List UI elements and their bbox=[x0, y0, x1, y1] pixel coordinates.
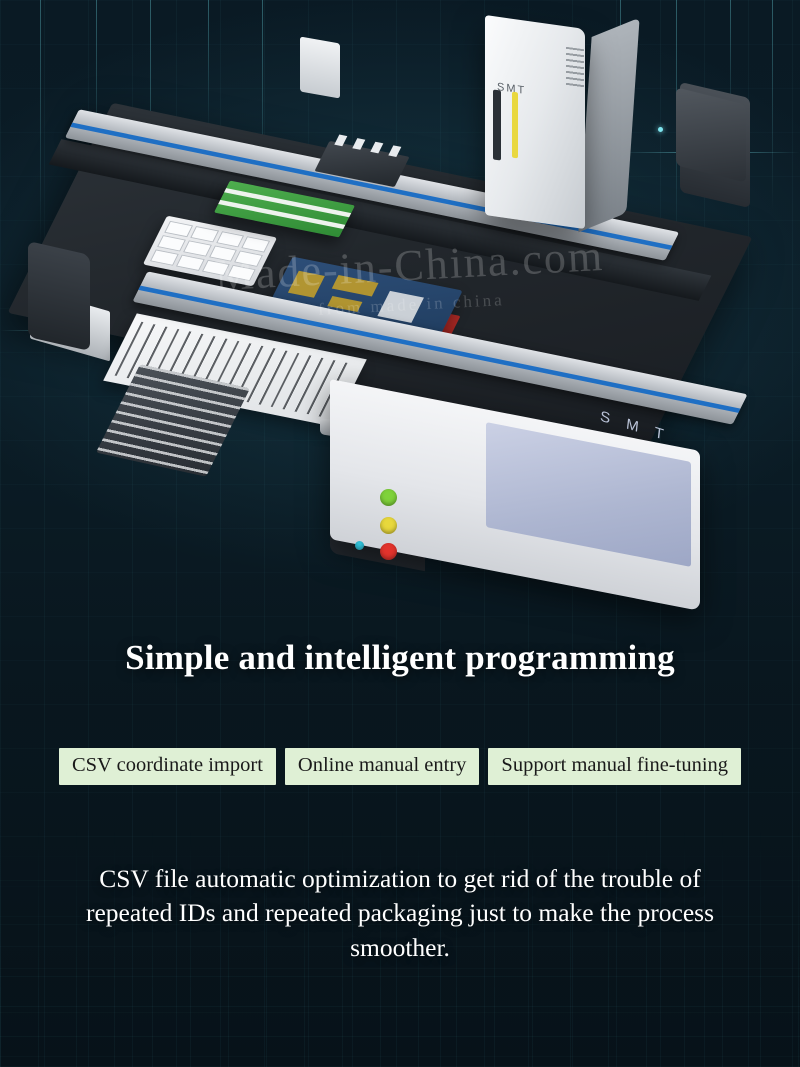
indicator-light-green bbox=[380, 489, 397, 506]
indicator-light-cyan bbox=[355, 541, 364, 550]
vent-grille-icon bbox=[566, 47, 584, 90]
headline: Simple and intelligent programming bbox=[0, 638, 800, 678]
head-slot-dark bbox=[493, 89, 501, 160]
feature-pill-csv-import: CSV coordinate import bbox=[59, 748, 276, 785]
pick-and-place-machine-illustration: SMT S M T Made-in-China.com from made in… bbox=[0, 0, 800, 620]
feature-pill-manual-entry: Online manual entry bbox=[285, 748, 480, 785]
placement-head-side bbox=[578, 18, 639, 233]
feature-pill-row: CSV coordinate import Online manual entr… bbox=[0, 748, 800, 785]
feature-pill-fine-tuning: Support manual fine-tuning bbox=[488, 748, 741, 785]
gantry-carriage bbox=[300, 36, 340, 98]
indicator-light-red bbox=[380, 543, 397, 560]
indicator-light-yellow bbox=[380, 517, 397, 534]
description-text: CSV file automatic optimization to get r… bbox=[60, 862, 740, 965]
head-slot-yellow bbox=[512, 92, 518, 159]
promo-banner: SMT S M T Made-in-China.com from made in… bbox=[0, 0, 800, 1067]
gantry-post-left bbox=[28, 241, 90, 351]
